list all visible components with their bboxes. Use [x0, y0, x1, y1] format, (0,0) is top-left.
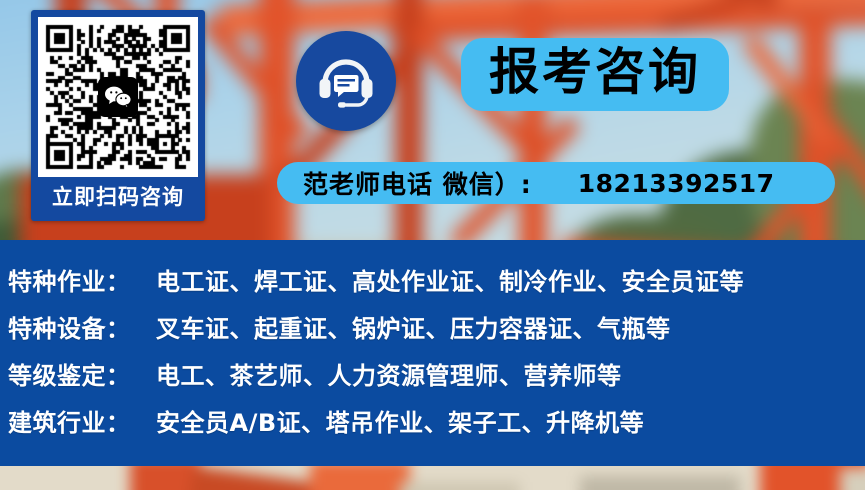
qr-code-image[interactable]	[38, 17, 198, 177]
phone-number[interactable]: 18213392517	[578, 169, 775, 198]
list-item-value: 电工、茶艺师、人力资源管理师、营养师等	[156, 356, 622, 391]
list-item-label: 建筑行业：	[8, 403, 142, 438]
list-item-label: 特种设备：	[8, 309, 142, 344]
banner-photo-background: 立即扫码咨询 报考咨询 范老师电话 微信）	[0, 0, 865, 240]
list-item-label: 特种作业：	[8, 262, 142, 297]
qr-code-card[interactable]: 立即扫码咨询	[31, 10, 205, 221]
phone-label: 范老师电话 微信）:	[303, 165, 532, 201]
list-item-value: 安全员A/B证、塔吊作业、架子工、升降机等	[156, 403, 644, 438]
list-item-value: 电工证、焊工证、高处作业证、制冷作业、安全员证等	[156, 262, 744, 297]
list-item: 特种作业： 电工证、焊工证、高处作业证、制冷作业、安全员证等	[8, 262, 865, 309]
bottom-blur-layer	[0, 466, 865, 490]
list-item: 特种设备： 叉车证、起重证、锅炉证、压力容器证、气瓶等	[8, 309, 865, 356]
list-item: 建筑行业： 安全员A/B证、塔吊作业、架子工、升降机等	[8, 403, 865, 450]
headset-chat-icon[interactable]	[296, 31, 396, 131]
qr-caption-label: 立即扫码咨询	[38, 177, 198, 218]
list-item-label: 等级鉴定：	[8, 356, 142, 391]
page-title: 报考咨询	[461, 38, 729, 111]
list-item-value: 叉车证、起重证、锅炉证、压力容器证、气瓶等	[156, 309, 671, 344]
contact-phone-pill[interactable]: 范老师电话 微信）: 18213392517	[277, 162, 835, 204]
promo-poster: 立即扫码咨询 报考咨询 范老师电话 微信）	[0, 0, 865, 490]
wechat-icon	[98, 77, 138, 117]
bottom-photo-strip	[0, 466, 865, 490]
course-category-list: 特种作业： 电工证、焊工证、高处作业证、制冷作业、安全员证等 特种设备： 叉车证…	[0, 240, 865, 466]
list-item: 等级鉴定： 电工、茶艺师、人力资源管理师、营养师等	[8, 356, 865, 403]
